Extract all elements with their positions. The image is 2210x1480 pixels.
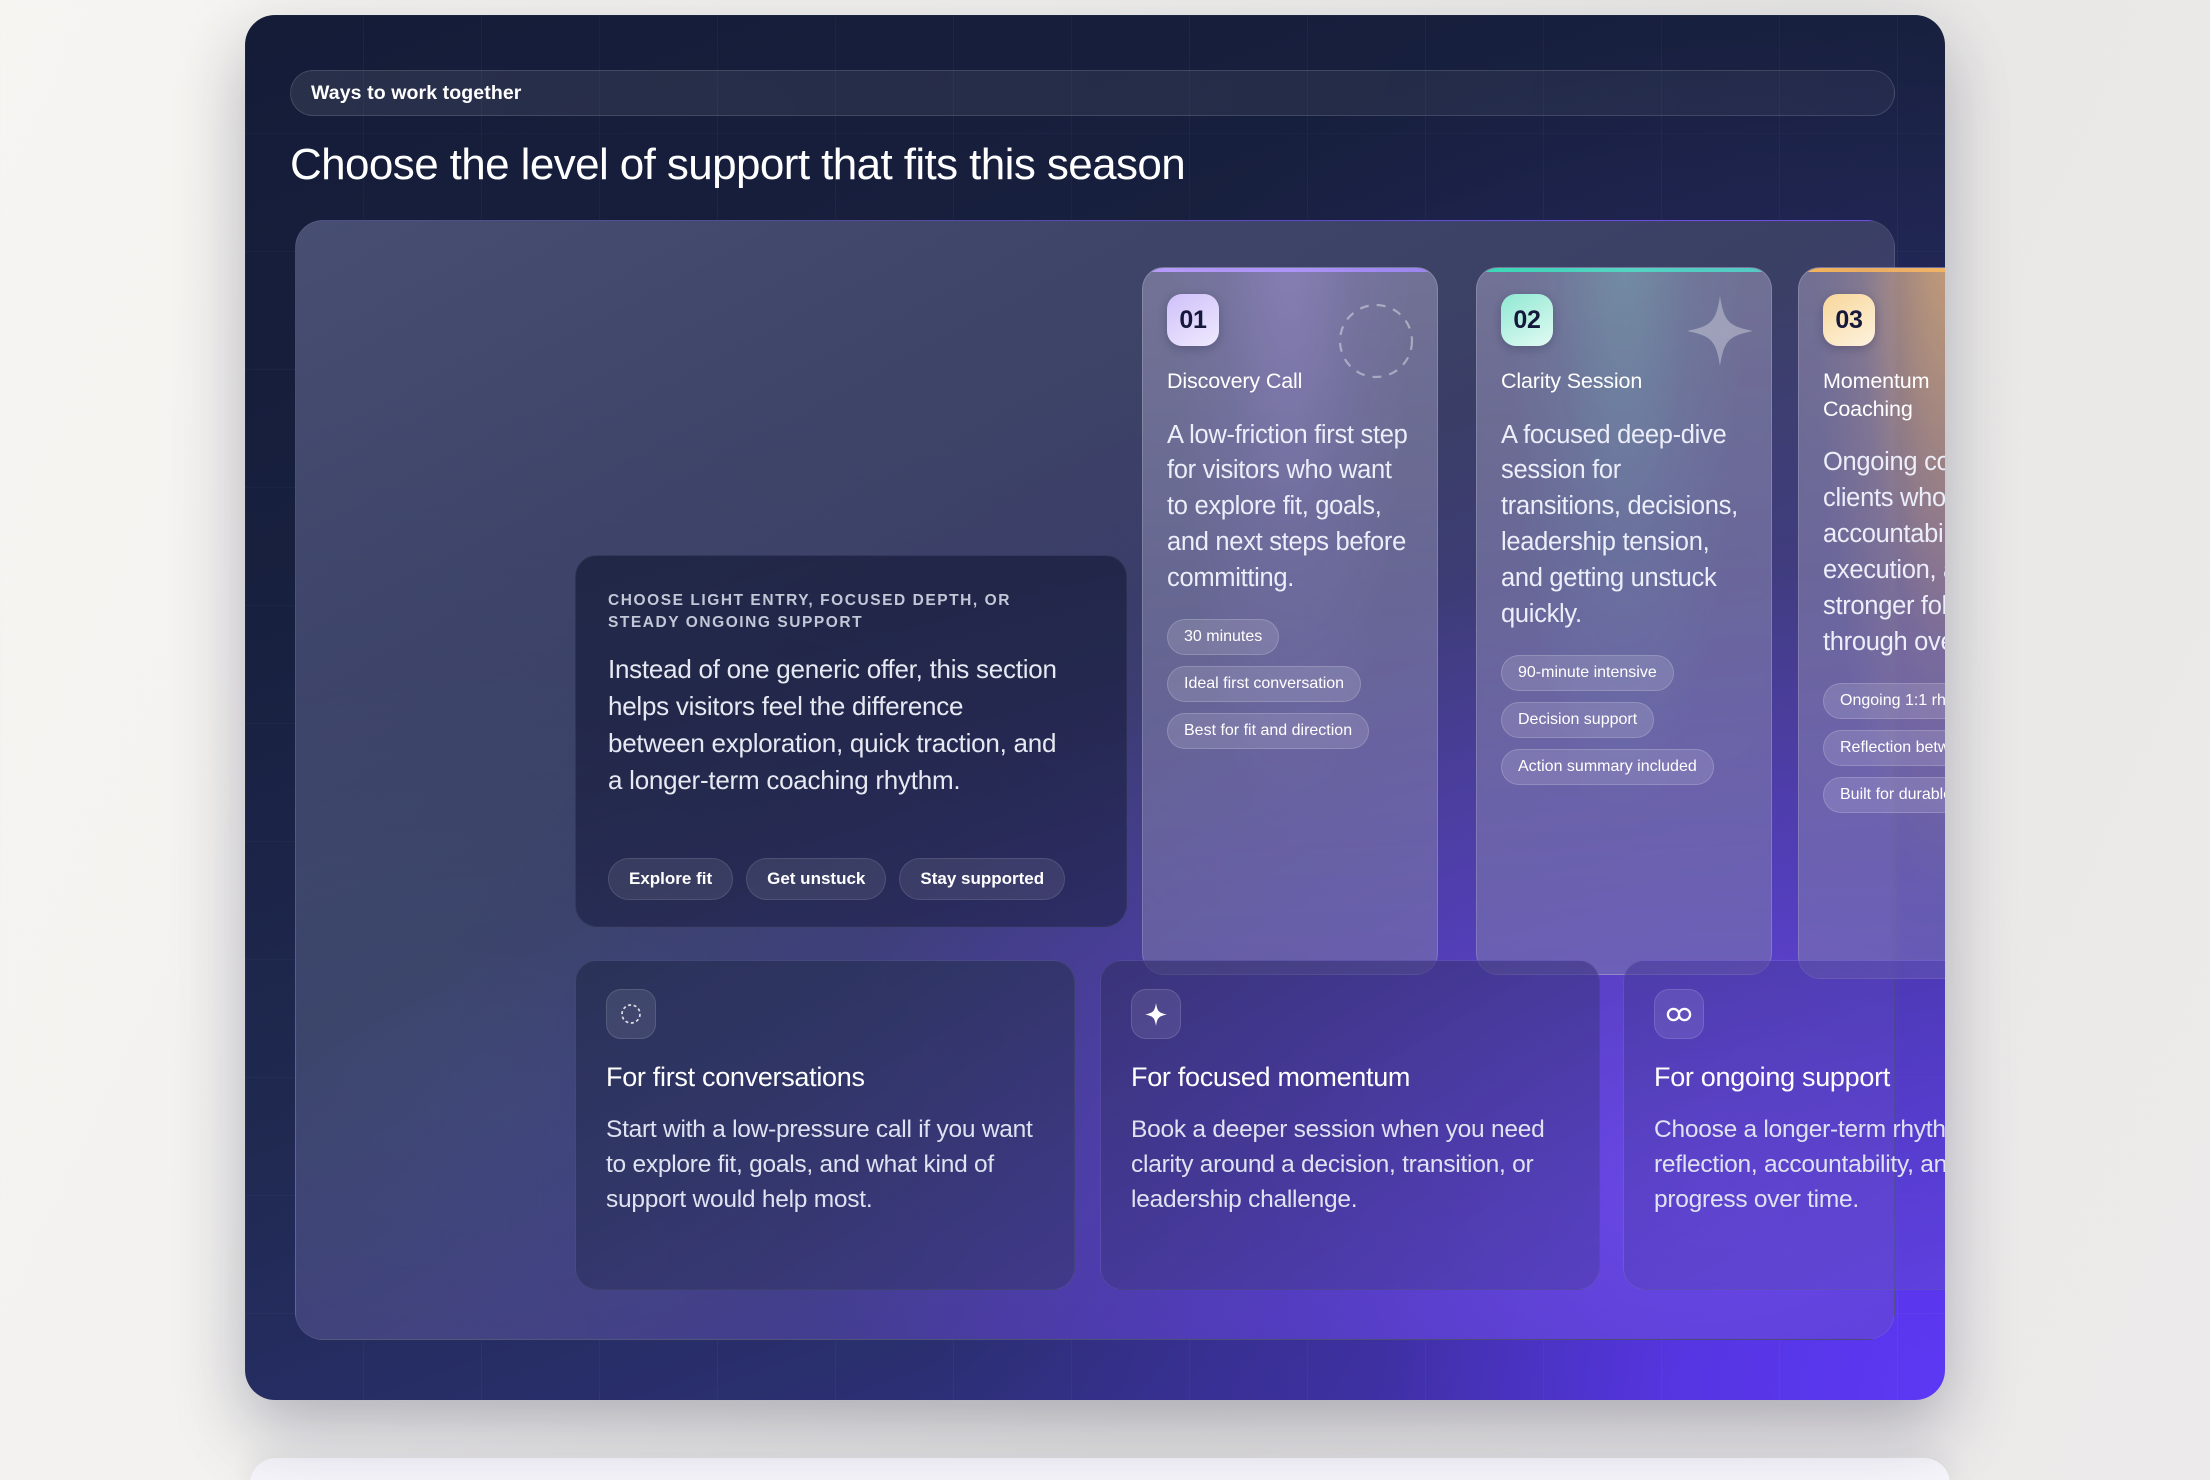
tier-description: Ongoing coaching for clients who need ac… (1823, 445, 1945, 661)
tier-tag-group: Ongoing 1:1 rhythm Reflection between se… (1823, 683, 1945, 813)
tier-tag: Reflection between sessions (1823, 730, 1945, 766)
tier-accent-bar (1799, 268, 1945, 272)
tier-number: 01 (1179, 306, 1206, 335)
tier-description: A focused deep-dive session for transiti… (1501, 418, 1747, 634)
feature-title: For first conversations (606, 1062, 1044, 1093)
tier-number: 02 (1513, 306, 1540, 335)
feature-title: For ongoing support (1654, 1062, 1945, 1093)
feature-card-focused-momentum[interactable]: For focused momentum Book a deeper sessi… (1100, 960, 1600, 1290)
tier-tag: Built for durable progress (1823, 777, 1945, 813)
tier-number-badge: 02 (1501, 294, 1553, 346)
dashed-circle-icon (606, 989, 656, 1039)
next-section-panel (250, 1458, 1950, 1480)
tier-card-clarity-session[interactable]: 02 Clarity Session A focused deep-dive s… (1476, 267, 1772, 975)
tier-tag: Ongoing 1:1 rhythm (1823, 683, 1945, 719)
chip-explore-fit[interactable]: Explore fit (608, 858, 733, 900)
tier-tag: 30 minutes (1167, 619, 1279, 655)
tier-description: A low-friction first step for visitors w… (1167, 418, 1413, 598)
tier-tag: Ideal first conversation (1167, 666, 1361, 702)
intro-kicker: CHOOSE LIGHT ENTRY, FOCUSED DEPTH, OR ST… (608, 590, 1078, 634)
eyebrow-pill: Ways to work together (290, 70, 1895, 116)
tier-name: Momentum Coaching (1823, 368, 1945, 423)
tier-name: Clarity Session (1501, 368, 1651, 396)
intro-chip-group: Explore fit Get unstuck Stay supported (608, 858, 1065, 900)
tier-card-momentum-coaching[interactable]: 03 Momentum Coaching Ongoing coaching fo… (1798, 267, 1945, 979)
feature-body: Start with a low-pressure call if you wa… (606, 1113, 1044, 1217)
page-title: Choose the level of support that fits th… (290, 140, 1185, 190)
tier-tag-group: 30 minutes Ideal first conversation Best… (1167, 619, 1413, 749)
eyebrow-label: Ways to work together (311, 82, 522, 105)
infinity-icon (1654, 989, 1704, 1039)
feature-title: For focused momentum (1131, 1062, 1569, 1093)
tier-tag: Action summary included (1501, 749, 1714, 785)
intro-body: Instead of one generic offer, this secti… (608, 651, 1063, 799)
tier-card-discovery-call[interactable]: 01 Discovery Call A low-friction first s… (1142, 267, 1438, 975)
tier-number-badge: 03 (1823, 294, 1875, 346)
sparkle-icon (1131, 989, 1181, 1039)
tier-name: Discovery Call (1167, 368, 1413, 396)
tier-tag-group: 90-minute intensive Decision support Act… (1501, 655, 1747, 785)
tier-tag: 90-minute intensive (1501, 655, 1674, 691)
showcase-frame: Ways to work together Choose the level o… (245, 15, 1945, 1400)
feature-card-ongoing-support[interactable]: For ongoing support Choose a longer-term… (1623, 960, 1945, 1290)
chip-stay-supported[interactable]: Stay supported (899, 858, 1065, 900)
feature-body: Book a deeper session when you need clar… (1131, 1113, 1569, 1217)
intro-card: CHOOSE LIGHT ENTRY, FOCUSED DEPTH, OR ST… (575, 555, 1127, 927)
chip-get-unstuck[interactable]: Get unstuck (746, 858, 886, 900)
feature-body: Choose a longer-term rhythm if you want … (1654, 1113, 1945, 1217)
tier-accent-bar (1143, 268, 1437, 272)
feature-card-first-conversations[interactable]: For first conversations Start with a low… (575, 960, 1075, 1290)
tier-number: 03 (1835, 306, 1862, 335)
tier-accent-bar (1477, 268, 1771, 272)
sparkle-icon (1687, 296, 1753, 371)
tier-tag: Decision support (1501, 702, 1654, 738)
tier-tag: Best for fit and direction (1167, 713, 1369, 749)
tier-number-badge: 01 (1167, 294, 1219, 346)
